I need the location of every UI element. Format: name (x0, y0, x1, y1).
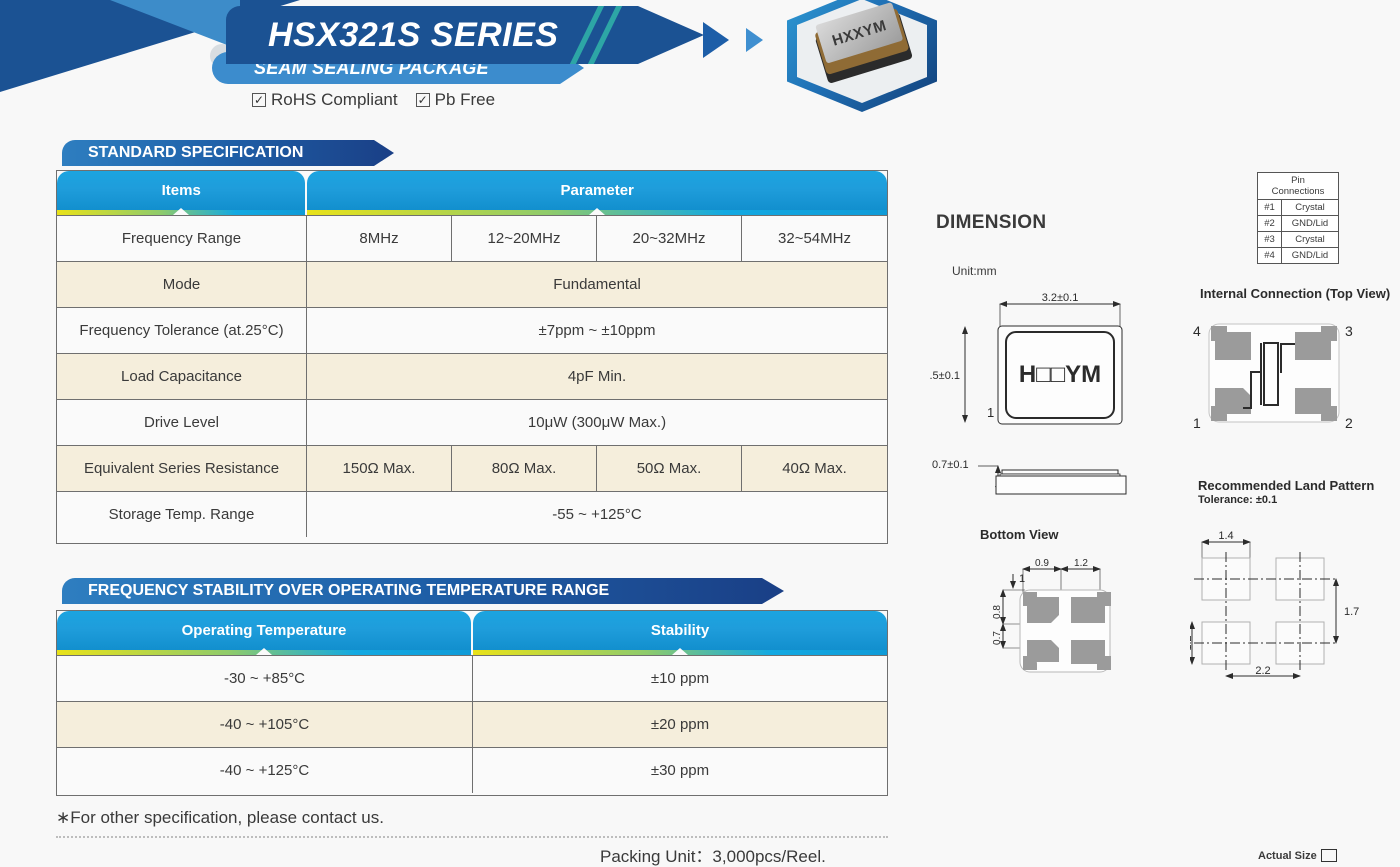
frequency-stability-table: Operating Temperature Stability -30 ~ +8… (56, 610, 888, 796)
spec-table-header-row: Items Parameter (57, 171, 887, 215)
stability-table-header-row: Operating Temperature Stability (57, 611, 887, 655)
pin-label-2: 2 (1345, 415, 1353, 431)
stability-value-cell: ±30 ppm (473, 748, 887, 793)
spec-header-parameter-label: Parameter (561, 182, 634, 199)
package-marking-label: H□□YM (1019, 361, 1101, 388)
spec-value-cell: 150Ω Max. (307, 446, 452, 491)
stability-header-stability: Stability (473, 611, 887, 655)
spec-value-cell: 50Ω Max. (597, 446, 742, 491)
dim-1-2-label: 1.2 (1190, 635, 1194, 650)
actual-size-label: Actual Size (1258, 850, 1317, 862)
height-dimension-label: 2.5±0.1 (930, 370, 960, 382)
pin1-indicator-label: 1 (987, 405, 994, 420)
checkbox-checked-icon: ✓ (252, 93, 266, 107)
table-row: #2 GND/Lid (1258, 216, 1338, 232)
spec-value-cell: ±7ppm ~ ±10ppm (307, 308, 887, 353)
stability-value-cell: ±20 ppm (473, 702, 887, 747)
series-title-banner: HSX321S SERIES (226, 6, 706, 64)
checkbox-checked-icon: ✓ (416, 93, 430, 107)
spec-item-label: Storage Temp. Range (57, 492, 307, 537)
spec-value-cell: 40Ω Max. (742, 446, 887, 491)
standard-specification-banner: STANDARD SPECIFICATION (62, 140, 394, 166)
pin-number: #2 (1258, 216, 1282, 231)
spec-value-cell: 20~32MHz (597, 216, 742, 261)
pin-number: #3 (1258, 232, 1282, 247)
pin-function: Crystal (1282, 232, 1338, 247)
dim-0-7-label: 0.7 (992, 631, 1003, 645)
land-pattern-drawing: 1.4 1.7 1.2 2.2 (1190, 530, 1390, 690)
land-pattern-tolerance: Tolerance: ±0.1 (1198, 494, 1277, 506)
compliance-badges: ✓ RoHS Compliant ✓ Pb Free (252, 90, 495, 110)
table-row: Drive Level 10μW (300μW Max.) (57, 399, 887, 445)
dim-0-8-label: 0.8 (992, 605, 1003, 619)
internal-connection-title: Internal Connection (Top View) (1200, 286, 1390, 301)
table-row: -30 ~ +85°C ±10 ppm (57, 655, 887, 701)
spec-value-cell: 80Ω Max. (452, 446, 597, 491)
pin-label-1: 1 (1193, 415, 1201, 431)
stability-temp-cell: -40 ~ +105°C (57, 702, 473, 747)
header-notch-icon (589, 208, 605, 215)
frequency-stability-title: FREQUENCY STABILITY OVER OPERATING TEMPE… (62, 582, 609, 600)
packing-unit-note: Packing Unit：3,000pcs/Reel. (600, 842, 826, 867)
table-row: -40 ~ +105°C ±20 ppm (57, 701, 887, 747)
other-specification-note: ∗For other specification, please contact… (56, 808, 384, 828)
bottom-view-title: Bottom View (980, 527, 1059, 542)
spec-value-cell: -55 ~ +125°C (307, 492, 887, 537)
table-row: #4 GND/Lid (1258, 248, 1338, 263)
stability-temp-cell: -40 ~ +125°C (57, 748, 473, 793)
header-notch-icon (173, 208, 189, 215)
table-row: #1 Crystal (1258, 200, 1338, 216)
dim-2-2-label: 2.2 (1255, 665, 1270, 677)
series-title-text: HSX321S SERIES (226, 16, 558, 55)
internal-connection-drawing: 4 3 1 2 (1185, 310, 1365, 440)
dim-1-7-label: 1.7 (1344, 606, 1359, 618)
pin-table-header: Pin Connections (1258, 173, 1338, 200)
pin-function: Crystal (1282, 200, 1338, 215)
pin-function: GND/Lid (1282, 248, 1338, 263)
pin-label-3: 3 (1345, 323, 1353, 339)
table-row: Mode Fundamental (57, 261, 887, 307)
spec-value-cell: 8MHz (307, 216, 452, 261)
table-row: Frequency Range 8MHz 12~20MHz 20~32MHz 3… (57, 215, 887, 261)
title-block: SEAM SEALING PACKAGE HSX321S SERIES (212, 2, 712, 92)
dim-1-2-label: 1.2 (1074, 558, 1088, 569)
stability-temp-cell: -30 ~ +85°C (57, 656, 473, 701)
header-notch-icon (256, 648, 272, 655)
dim-1-4-label: 1.4 (1218, 530, 1233, 542)
spec-item-label: Mode (57, 262, 307, 307)
table-row: Storage Temp. Range -55 ~ +125°C (57, 491, 887, 537)
stability-header-operating-temperature: Operating Temperature (57, 611, 471, 655)
stability-header-st-label: Stability (651, 622, 709, 639)
product-hex-badge: HXXYM (787, 0, 937, 112)
table-row: Frequency Tolerance (at.25°C) ±7ppm ~ ±1… (57, 307, 887, 353)
spec-value-cell: 4pF Min. (307, 354, 887, 399)
compliance-pbfree-label: Pb Free (435, 90, 495, 110)
spec-header-items: Items (57, 171, 305, 215)
compliance-pbfree: ✓ Pb Free (416, 90, 495, 110)
bottom-view-drawing: 0.9 1.2 1 0.8 0.7 (975, 552, 1140, 692)
table-row: -40 ~ +125°C ±30 ppm (57, 747, 887, 793)
width-dimension-label: 3.2±0.1 (1042, 292, 1079, 304)
arrow-right-large-icon (703, 22, 729, 58)
dim-0-9-label: 0.9 (1035, 558, 1049, 569)
dim-1-label: 1 (1019, 573, 1025, 585)
compliance-rohs: ✓ RoHS Compliant (252, 90, 398, 110)
standard-specification-title: STANDARD SPECIFICATION (62, 144, 303, 162)
compliance-rohs-label: RoHS Compliant (271, 90, 398, 110)
dimension-title: DIMENSION (936, 212, 1046, 234)
pin-number: #4 (1258, 248, 1282, 263)
thickness-dimension-label: 0.7±0.1 (932, 459, 969, 471)
page-header: SEAM SEALING PACKAGE HSX321S SERIES HXXY… (0, 0, 1400, 120)
spec-item-label: Equivalent Series Resistance (57, 446, 307, 491)
spec-value-cell: 12~20MHz (452, 216, 597, 261)
stability-value-cell: ±10 ppm (473, 656, 887, 701)
pin-table-title: Pin Connections (1258, 173, 1338, 199)
table-row: #3 Crystal (1258, 232, 1338, 248)
spec-value-cell: Fundamental (307, 262, 887, 307)
actual-size-box-icon (1321, 849, 1337, 862)
header-notch-icon (672, 648, 688, 655)
table-row: Equivalent Series Resistance 150Ω Max. 8… (57, 445, 887, 491)
unit-label: Unit:mm (952, 264, 997, 278)
chip-marking-text: HXXYM (830, 17, 888, 50)
divider-dotted (56, 836, 888, 838)
spec-item-label: Drive Level (57, 400, 307, 445)
spec-item-label: Frequency Tolerance (at.25°C) (57, 308, 307, 353)
pin-function: GND/Lid (1282, 216, 1338, 231)
spec-item-label: Frequency Range (57, 216, 307, 261)
spec-item-label: Load Capacitance (57, 354, 307, 399)
pin-number: #1 (1258, 200, 1282, 215)
spec-value-cell: 32~54MHz (742, 216, 887, 261)
spec-header-items-label: Items (162, 182, 201, 199)
spec-value-cell: 10μW (300μW Max.) (307, 400, 887, 445)
pin-connections-table: Pin Connections #1 Crystal #2 GND/Lid #3… (1257, 172, 1339, 264)
pin-label-4: 4 (1193, 323, 1201, 339)
top-view-drawing: 3.2±0.1 2.5±0.1 H□□YM 1 (930, 282, 1150, 452)
side-view-drawing: 0.7±0.1 (930, 452, 1150, 512)
standard-specification-table: Items Parameter Frequency Range 8MHz 12~… (56, 170, 888, 544)
land-pattern-title: Recommended Land Pattern (1198, 478, 1374, 493)
table-row: Load Capacitance 4pF Min. (57, 353, 887, 399)
actual-size-indicator: Actual Size (1258, 849, 1337, 862)
stability-header-op-label: Operating Temperature (182, 622, 347, 639)
spec-header-parameter: Parameter (307, 171, 887, 215)
arrow-right-small-icon (746, 28, 763, 52)
frequency-stability-banner: FREQUENCY STABILITY OVER OPERATING TEMPE… (62, 578, 784, 604)
